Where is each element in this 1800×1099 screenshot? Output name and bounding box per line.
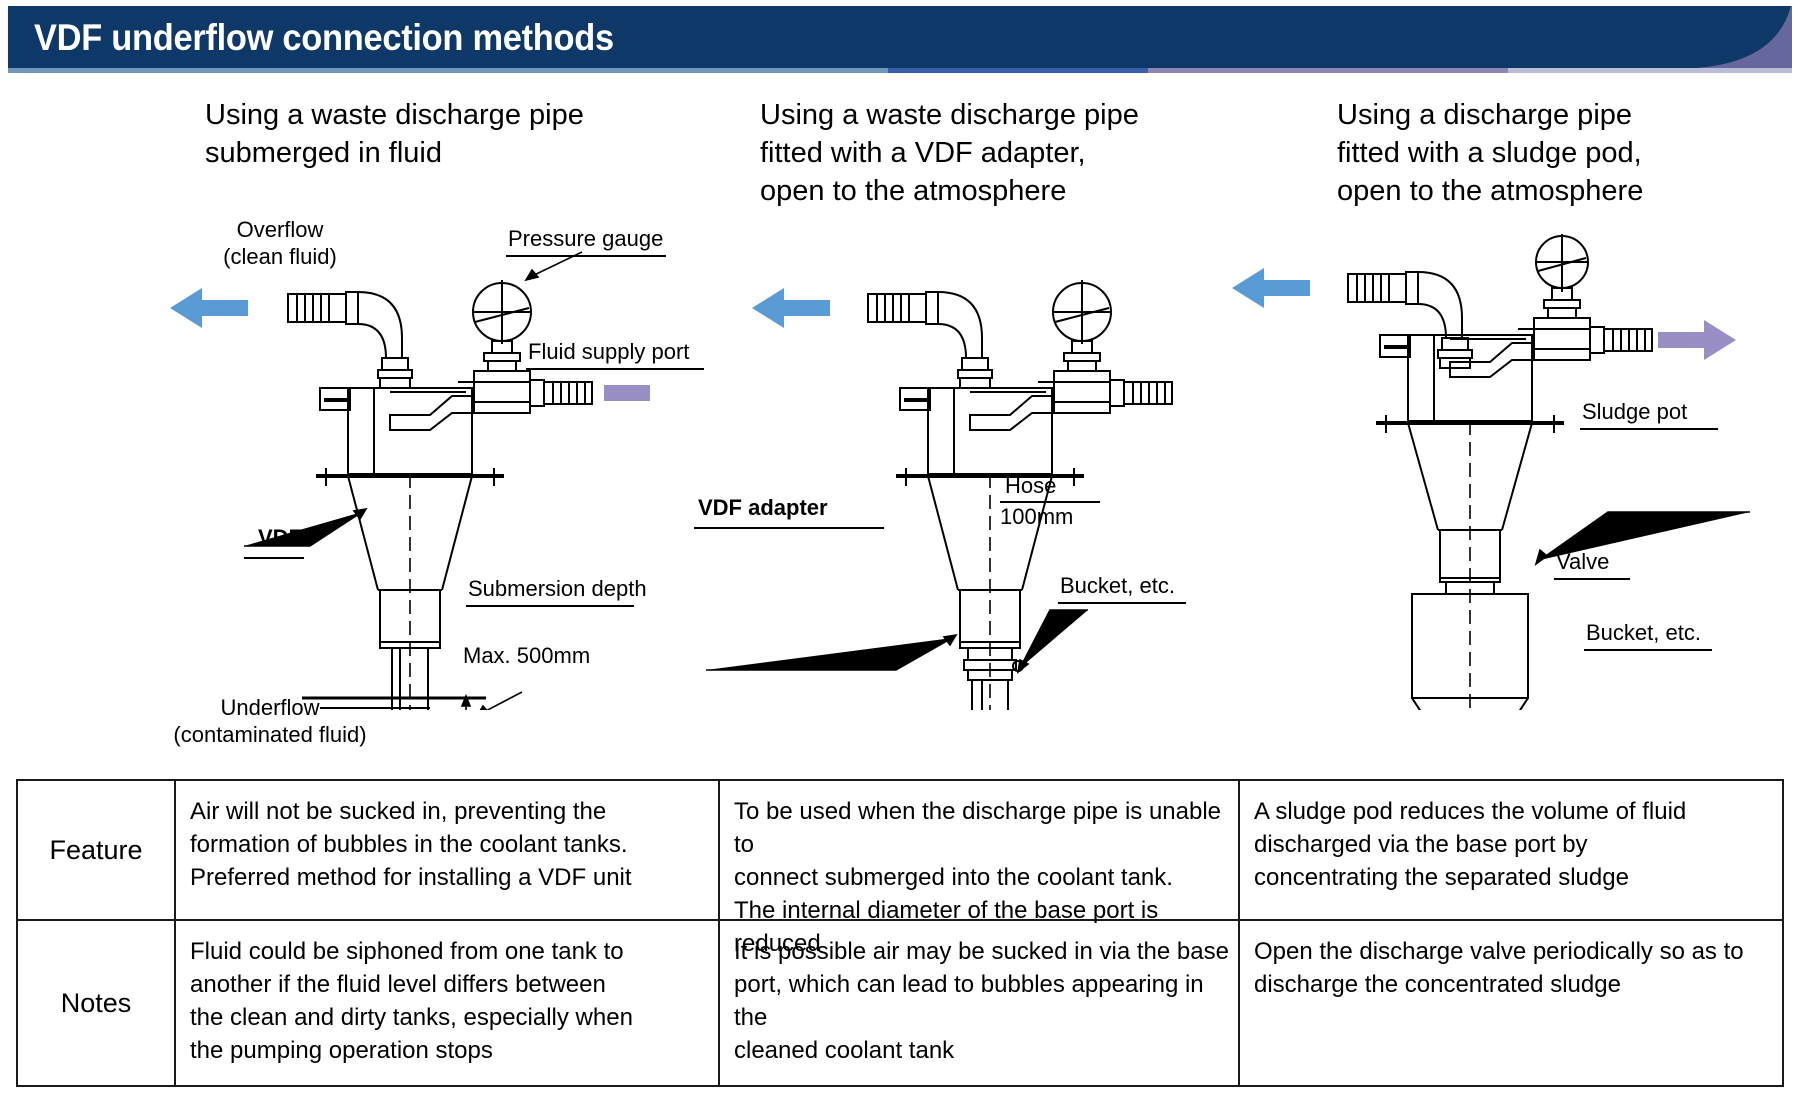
underline-fluid-supply-port <box>526 368 704 370</box>
column-heading-3: Using a discharge pipe fitted with a slu… <box>1337 96 1643 210</box>
label-valve: Valve <box>1556 548 1609 575</box>
label-hose-size: 100mm <box>1000 503 1073 530</box>
header-banner: VDF underflow connection methods <box>8 6 1792 68</box>
label-bucket-diagram3: Bucket, etc. <box>1586 619 1701 646</box>
column-heading-2: Using a waste discharge pipe fitted with… <box>760 96 1139 210</box>
table-row: Notes Fluid could be siphoned from one t… <box>18 921 1782 1085</box>
feature-cell-1: Air will not be sucked in, preventing th… <box>176 781 720 919</box>
banner-accent-swoosh <box>1576 6 1792 68</box>
page-title: VDF underflow connection methods <box>34 17 614 59</box>
underline-pressure-gauge <box>506 255 666 257</box>
diagram-vdf-submerged <box>130 230 650 710</box>
label-sludge-pot: Sludge pot <box>1582 398 1687 425</box>
comparison-table: Feature Air will not be sucked in, preve… <box>16 779 1784 1087</box>
feature-cell-2: To be used when the discharge pipe is un… <box>720 781 1240 919</box>
label-max-depth: Max. 500mm <box>463 642 590 669</box>
label-underflow: Underflow (contaminated fluid) <box>140 694 400 748</box>
table-row: Feature Air will not be sucked in, preve… <box>18 781 1782 921</box>
underline-vdf-adapter <box>694 527 884 529</box>
diagram-vdf-adapter <box>690 230 1210 710</box>
underline-vdf <box>244 557 304 559</box>
feature-cell-3: A sludge pod reduces the volume of fluid… <box>1240 781 1782 919</box>
label-submersion-depth: Submersion depth <box>468 575 647 602</box>
underline-bucket-diagram3 <box>1584 649 1712 651</box>
label-vdf: VDF <box>258 524 302 551</box>
notes-cell-1: Fluid could be siphoned from one tank to… <box>176 921 720 1085</box>
label-bucket-diagram2: Bucket, etc. <box>1060 572 1175 599</box>
underline-submersion-depth <box>466 605 634 607</box>
column-heading-1: Using a waste discharge pipe submerged i… <box>205 96 584 172</box>
label-vdf-adapter: VDF adapter <box>698 494 828 521</box>
label-hose: Hose <box>1005 472 1056 499</box>
banner-underline <box>8 68 1792 73</box>
row-label-notes: Notes <box>18 921 176 1085</box>
label-pressure-gauge: Pressure gauge <box>508 225 663 252</box>
label-overflow: Overflow (clean fluid) <box>190 216 370 270</box>
underline-valve <box>1554 578 1630 580</box>
notes-cell-2: It is possible air may be sucked in via … <box>720 921 1240 1085</box>
label-fluid-supply-port: Fluid supply port <box>528 338 689 365</box>
notes-cell-3: Open the discharge valve periodically so… <box>1240 921 1782 1085</box>
row-label-feature: Feature <box>18 781 176 919</box>
underline-sludge-pot <box>1580 428 1718 430</box>
underline-bucket-diagram2 <box>1058 602 1186 604</box>
